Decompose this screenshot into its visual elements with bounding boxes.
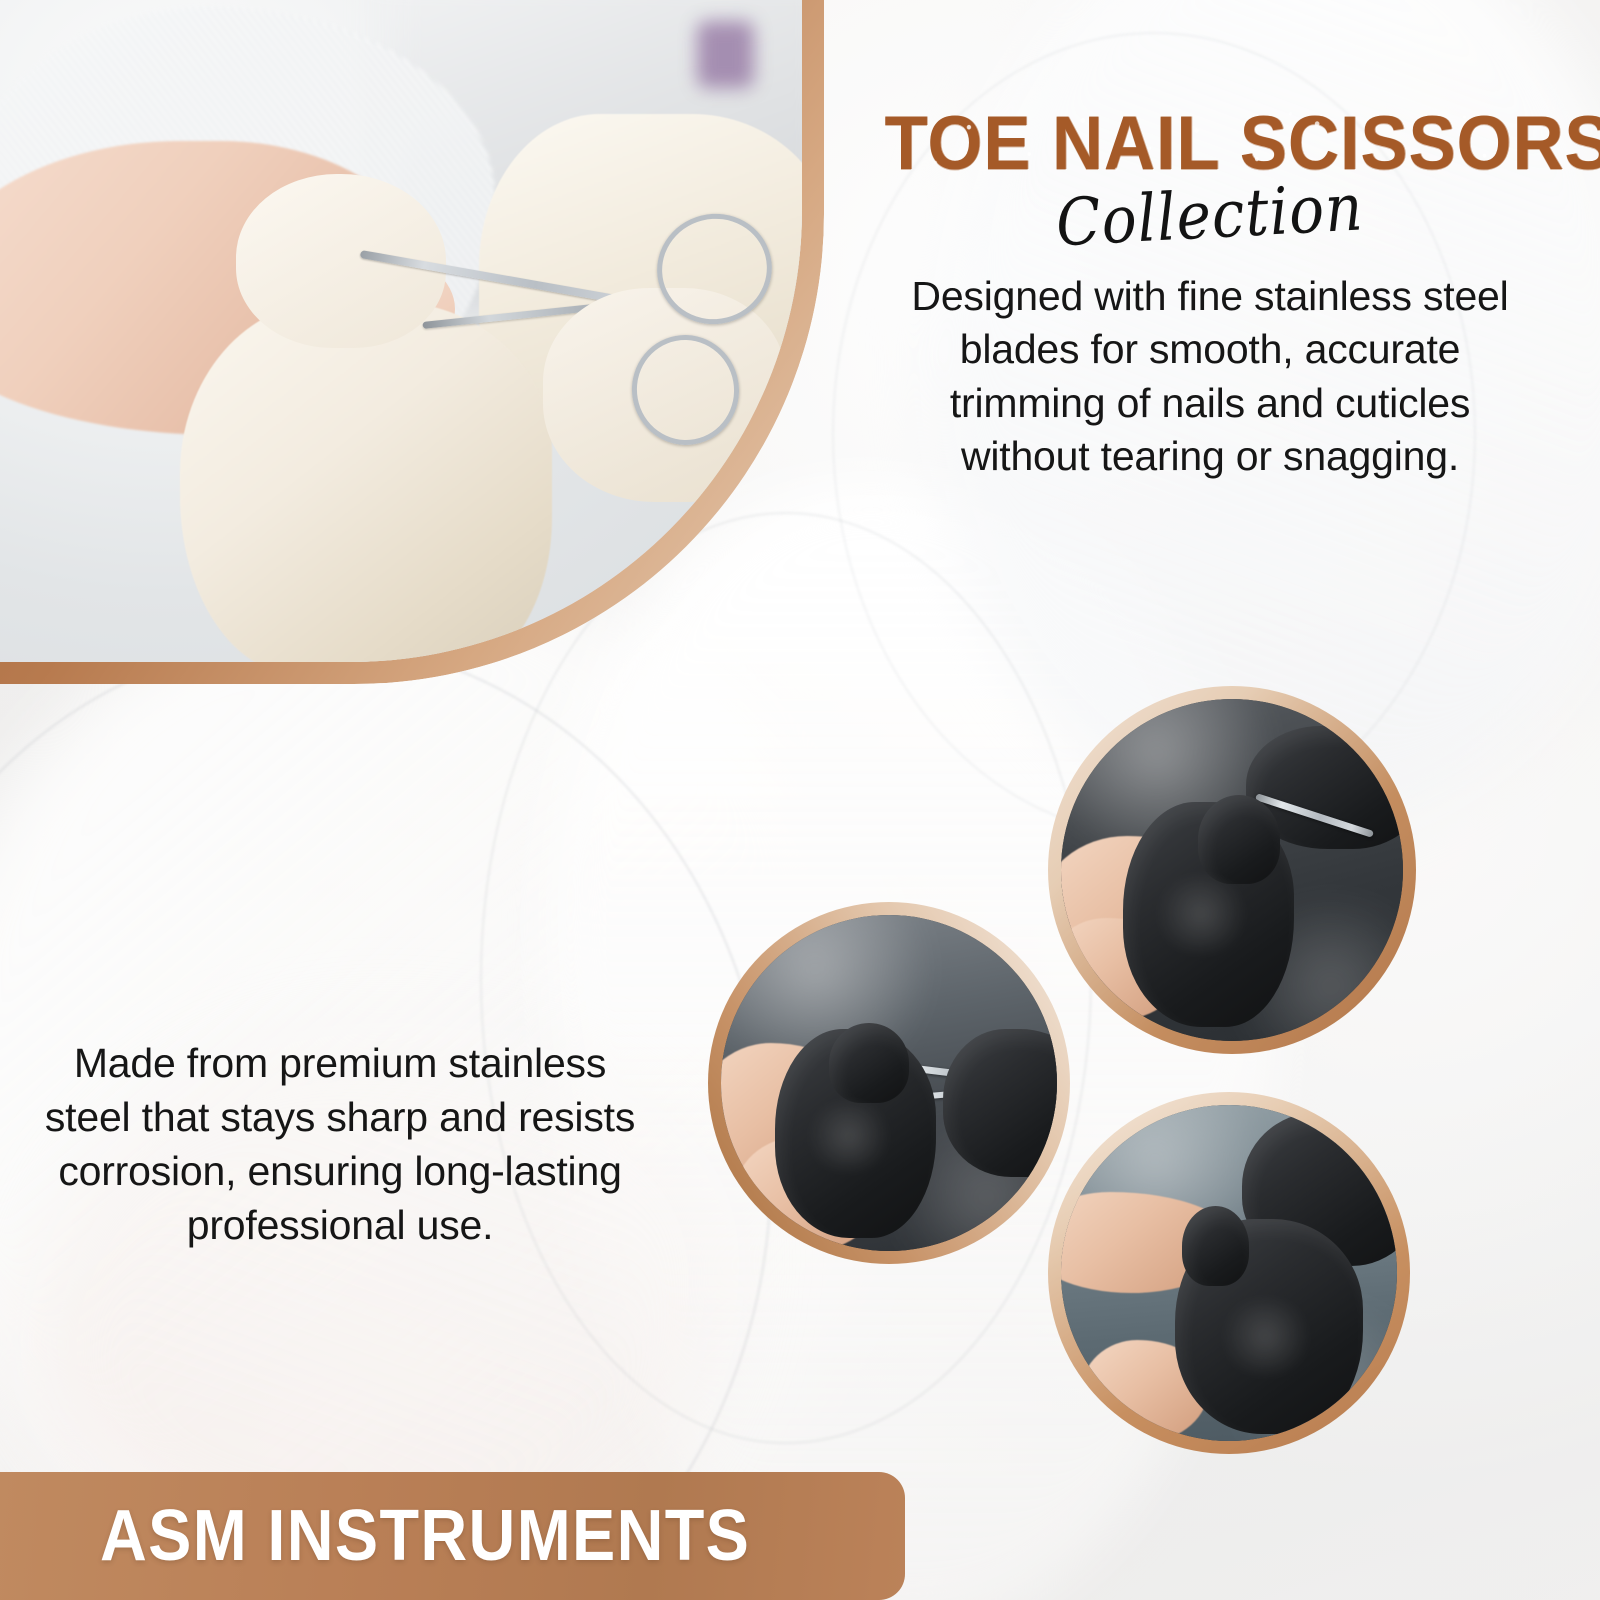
thumb2-right-glove xyxy=(943,1029,1057,1177)
thumbnail-circle-2-photo xyxy=(721,915,1057,1251)
thumbnail-circle-2 xyxy=(708,902,1070,1264)
product-infographic-poster: TOE NAIL SCISSORS Collection Designed wi… xyxy=(0,0,1600,1600)
thumb2-glove-highlight xyxy=(802,1103,896,1170)
hero-image-photo xyxy=(0,0,802,662)
thumbnail-circle-1 xyxy=(1048,686,1416,1054)
hero-image xyxy=(0,0,824,684)
thumbnail-circle-3-photo xyxy=(1061,1105,1397,1441)
feature-description: Made from premium stainless steel that s… xyxy=(30,1036,650,1252)
thumb3-glove-highlight xyxy=(1216,1300,1317,1374)
thumbnail-circle-3 xyxy=(1048,1092,1410,1454)
header-description: Designed with fine stainless steel blade… xyxy=(890,270,1530,483)
header-block: TOE NAIL SCISSORS Collection Designed wi… xyxy=(860,108,1560,483)
title-script-word: Collection xyxy=(1055,175,1365,256)
brand-banner: ASM INSTRUMENTS xyxy=(0,1472,905,1600)
thumb1-glove-highlight xyxy=(1150,877,1253,952)
thumb3-glove-fingertip xyxy=(1182,1206,1249,1287)
thumbnail-circle-1-photo xyxy=(1061,699,1403,1041)
hero-photo-left-glove xyxy=(180,301,552,662)
thumb2-glove-fingertip xyxy=(829,1023,910,1104)
hero-photo-purple-accent xyxy=(697,21,754,88)
brand-name: ASM INSTRUMENTS xyxy=(100,1495,750,1577)
thumb1-glove-fingertip xyxy=(1198,795,1280,884)
page-title: TOE NAIL SCISSORS xyxy=(885,108,1536,180)
